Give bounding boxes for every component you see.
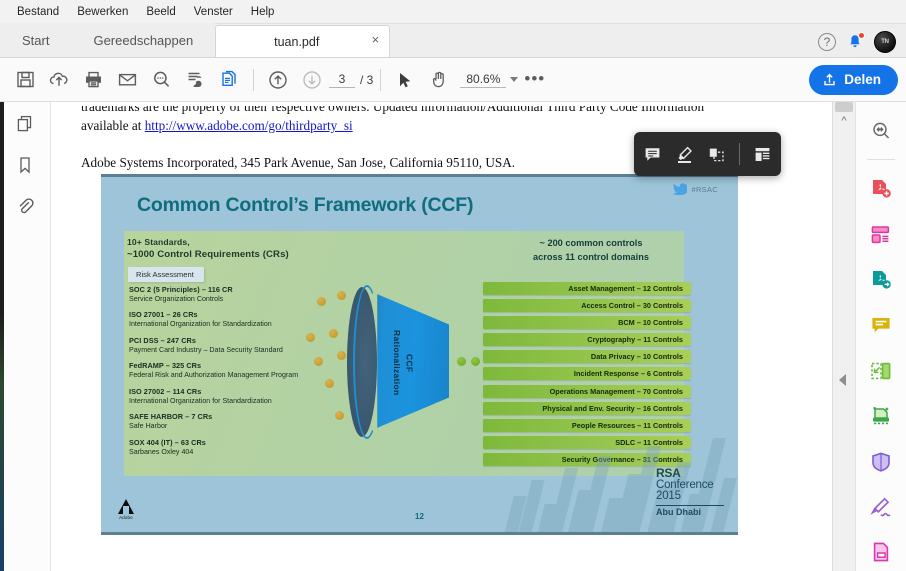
upload-cloud-icon[interactable]: [42, 63, 76, 97]
menu-bar: Bestand Bewerken Beeld Venster Help: [0, 0, 906, 24]
menu-item-bewerken[interactable]: Bewerken: [68, 3, 137, 21]
menu-item-bestand[interactable]: Bestand: [8, 3, 68, 21]
zoom-value[interactable]: 80.6%: [460, 72, 506, 88]
bookmarks-icon[interactable]: [15, 155, 35, 180]
export-pdf-icon[interactable]: [862, 261, 900, 298]
output-dot: [471, 357, 480, 366]
save-icon[interactable]: [8, 63, 42, 97]
search-document-icon[interactable]: [862, 112, 900, 149]
chevron-up-icon[interactable]: ^: [833, 115, 855, 127]
close-icon[interactable]: ×: [372, 33, 380, 46]
notifications-bell-icon[interactable]: [846, 33, 864, 51]
highlight-text-icon[interactable]: [675, 145, 694, 164]
input-dot: [337, 291, 346, 300]
email-icon[interactable]: [110, 63, 144, 97]
list-item: Security Governance – 31 Controls: [483, 453, 691, 466]
print-icon[interactable]: [76, 63, 110, 97]
ccf-funnel-diagram: CCF Rationalization: [339, 285, 469, 445]
window-left-edge: [0, 102, 4, 571]
tab-strip: Start Gereedschappen tuan.pdf × ? TN: [0, 24, 906, 58]
page-layout-icon[interactable]: [754, 146, 771, 163]
risk-assessment-tab: Risk Assessment: [128, 267, 204, 282]
tab-strip-actions: ? TN: [818, 31, 906, 57]
fill-and-sign-icon[interactable]: [862, 488, 900, 525]
slide-title: Common Control’s Framework (CCF): [137, 194, 473, 217]
page-bottom-edge: [51, 565, 832, 571]
enhance-scan-icon[interactable]: [862, 397, 900, 434]
list-item: Incident Response – 6 Controls: [483, 367, 691, 380]
toolbar-divider-2: [380, 69, 381, 91]
page-navigation: / 3: [329, 72, 373, 88]
document-viewport[interactable]: trademarks are the property of their res…: [51, 102, 855, 571]
input-dot: [314, 357, 323, 366]
collapse-left-panel-icon[interactable]: [839, 374, 846, 386]
chevron-down-icon[interactable]: [510, 77, 518, 82]
notification-badge: [858, 32, 865, 39]
rail-divider: [867, 159, 895, 160]
tab-home[interactable]: Start: [0, 23, 71, 57]
list-item: SDLC – 11 Controls: [483, 436, 691, 449]
select-cursor-icon[interactable]: [388, 63, 422, 97]
toolbar-divider: [253, 69, 254, 91]
logo-divider: [656, 505, 724, 506]
edit-pdf-icon[interactable]: [862, 534, 900, 571]
snapshot-copy-icon[interactable]: [708, 146, 725, 163]
help-icon[interactable]: ?: [818, 33, 836, 51]
previous-page-icon[interactable]: [261, 63, 295, 97]
pdf-clipped-line: trademarks are the property of their res…: [81, 106, 806, 116]
list-item: BCM – 10 Controls: [483, 316, 691, 329]
share-button-label: Delen: [844, 72, 881, 87]
list-item: Physical and Env. Security – 16 Controls: [483, 402, 691, 415]
right-tools-rail: [855, 102, 906, 571]
menu-item-beeld[interactable]: Beeld: [137, 3, 184, 21]
zoom-control: 80.6%: [460, 72, 518, 88]
slide-header-left: 10+ Standards, ~1000 Control Requirement…: [127, 236, 289, 262]
left-navigation-rail: [0, 102, 51, 571]
tab-document-label: tuan.pdf: [274, 35, 319, 49]
output-dot: [457, 357, 466, 366]
funnel-label: CCF Rationalization: [391, 321, 415, 405]
export-pdf-icon[interactable]: [212, 63, 246, 97]
search-icon[interactable]: [144, 63, 178, 97]
list-item: People Resources – 11 Controls: [483, 419, 691, 432]
menu-item-help[interactable]: Help: [242, 3, 284, 21]
create-pdf-icon[interactable]: [862, 170, 900, 207]
attachments-icon[interactable]: [15, 196, 35, 221]
slide-page-number: 12: [101, 512, 738, 521]
list-item: Cryptography – 11 Controls: [483, 333, 691, 346]
list-item: Operations Management – 70 Controls: [483, 385, 691, 398]
list-item: Data Privacy – 10 Controls: [483, 350, 691, 363]
input-dot: [329, 329, 338, 338]
page-thumbnails-icon[interactable]: [15, 114, 35, 139]
twitter-hashtag: #RSAC: [673, 183, 718, 195]
edit-text-icon[interactable]: [178, 63, 212, 97]
hashtag-label: #RSAC: [691, 185, 718, 194]
hand-icon[interactable]: [422, 63, 456, 97]
input-dot: [325, 379, 334, 388]
list-item: Asset Management – 12 Controls: [483, 282, 691, 295]
avatar-initials: TN: [875, 32, 895, 52]
organize-pages-icon[interactable]: [862, 216, 900, 253]
controls-list: Asset Management – 12 Controls Access Co…: [483, 282, 691, 470]
compress-pdf-icon[interactable]: [862, 352, 900, 389]
menu-item-venster[interactable]: Venster: [185, 3, 242, 21]
protect-icon[interactable]: [862, 443, 900, 480]
tab-tools[interactable]: Gereedschappen: [71, 23, 215, 57]
twitter-bird-icon: [673, 183, 687, 195]
avatar[interactable]: TN: [874, 31, 896, 53]
add-comment-icon[interactable]: [644, 146, 661, 163]
input-dot: [337, 351, 346, 360]
funnel-rim: [353, 285, 381, 439]
input-dot: [306, 333, 315, 342]
input-dot: [335, 411, 344, 420]
vertical-scrollbar[interactable]: ^: [832, 102, 855, 571]
rsa-conference-logo: RSA Conference 2015 Abu Dhabi: [656, 467, 724, 517]
page-number-input[interactable]: [329, 72, 355, 88]
tab-document[interactable]: tuan.pdf ×: [215, 25, 390, 57]
workspace: trademarks are the property of their res…: [0, 102, 906, 571]
slide-header-right: ~ 200 common controls across 11 control …: [511, 237, 671, 265]
page-total-label: / 3: [360, 73, 373, 87]
more-options-icon[interactable]: •••: [518, 74, 551, 84]
floating-annotation-toolbar: [634, 132, 781, 176]
comment-icon[interactable]: [862, 307, 900, 344]
slide-image: Common Control’s Framework (CCF) #RSAC 1…: [101, 174, 738, 535]
list-item: Access Control – 30 Controls: [483, 299, 691, 312]
main-toolbar: / 3 80.6% ••• Delen: [0, 58, 906, 102]
share-button[interactable]: Delen: [809, 65, 898, 95]
floatbar-divider: [739, 143, 740, 165]
third-party-link[interactable]: http://www.adobe.com/go/thirdparty_si: [145, 118, 353, 133]
input-dot: [317, 297, 326, 306]
scrollbar-thumb[interactable]: [835, 102, 853, 112]
next-page-icon[interactable]: [295, 63, 329, 97]
